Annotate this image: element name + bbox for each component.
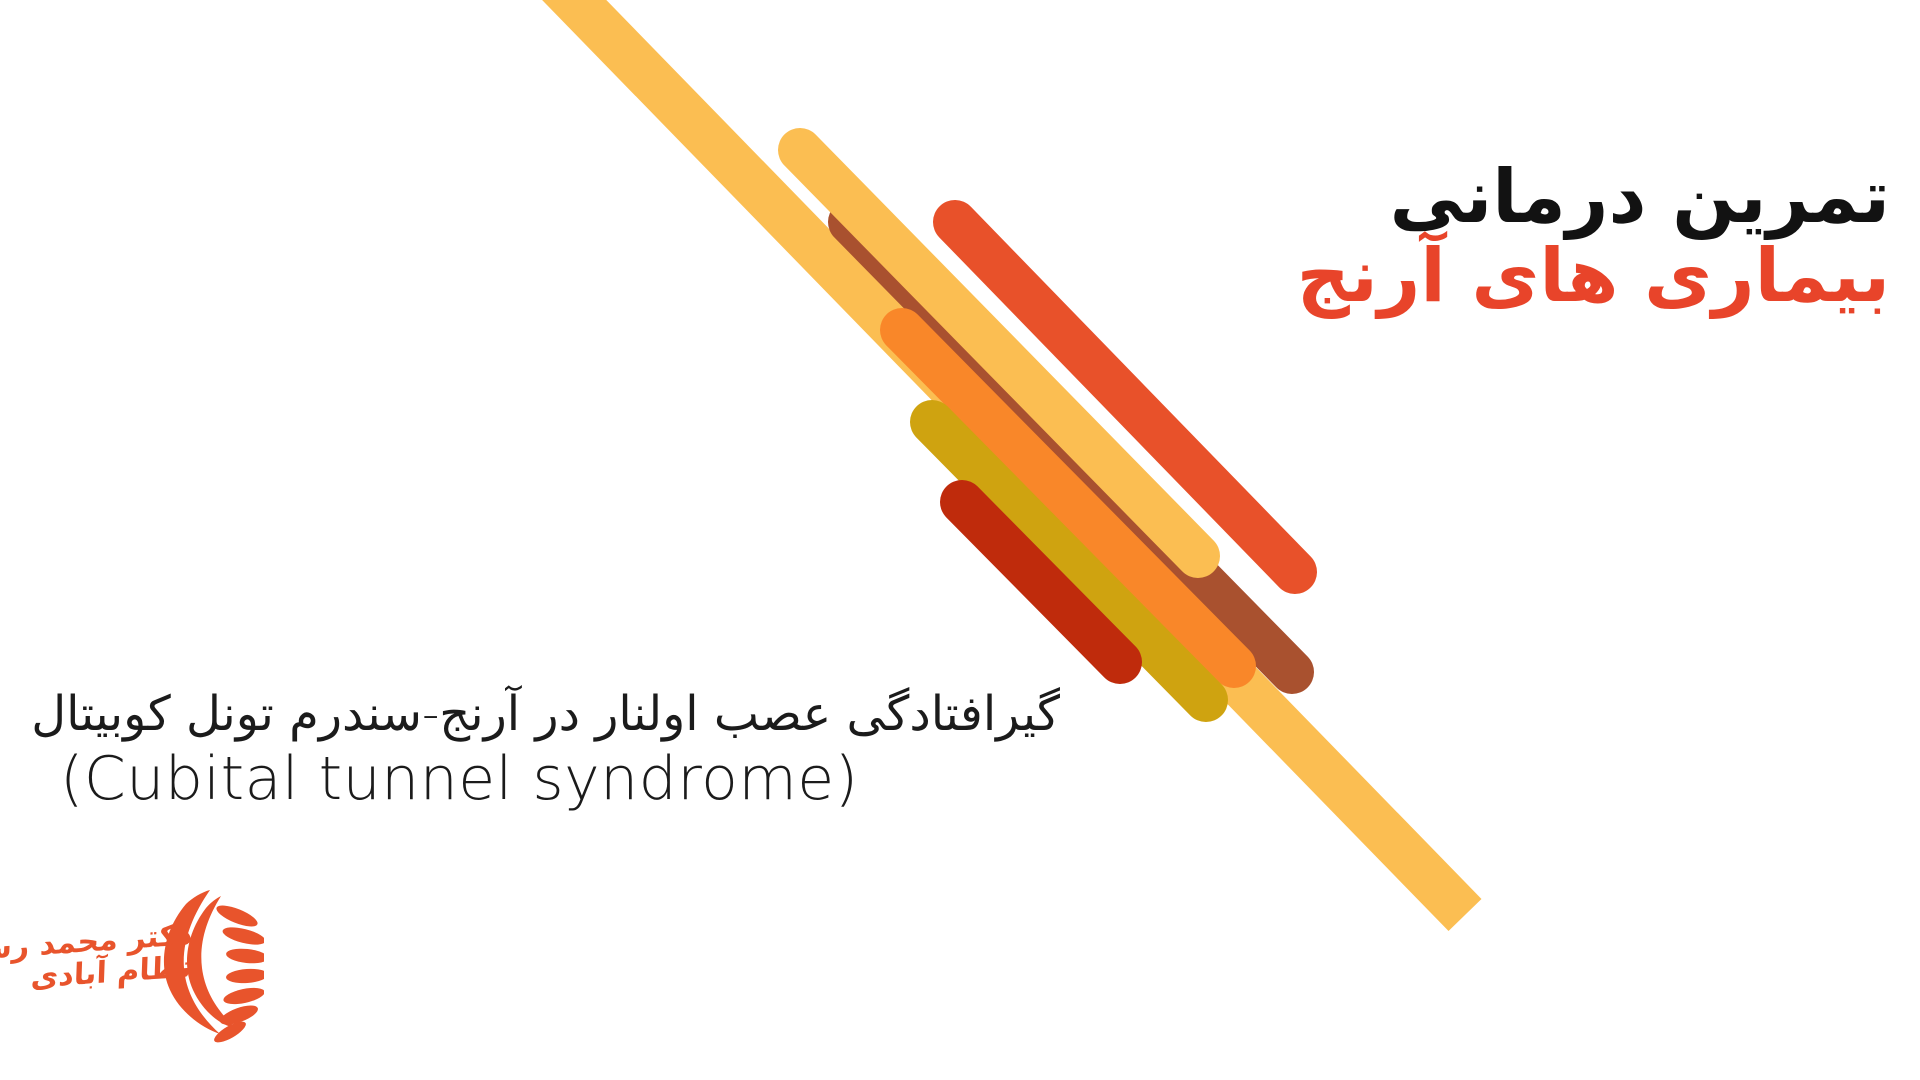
bar-orange-red — [955, 222, 1295, 572]
presentation-slide: تمرین درمانی بیماری های آرنج گیرافتادگی … — [0, 0, 1920, 1080]
bar-gold — [800, 150, 1198, 556]
bar-orange — [902, 330, 1234, 666]
brand-logo: دکتر محمد رسول نظام آبادی — [14, 886, 264, 1046]
slide-title: تمرین درمانی بیماری های آرنج — [1297, 160, 1890, 315]
bar-dark-yellow — [932, 422, 1206, 700]
bar-dark-red — [962, 502, 1120, 662]
title-line-primary: تمرین درمانی — [1297, 160, 1890, 235]
bar-brown — [850, 222, 1292, 672]
spine-flame-icon — [164, 890, 264, 1046]
subtitle-persian: گیرافتادگی عصب اولنار در آرنج-سندرم تونل… — [60, 688, 1060, 742]
title-line-secondary: بیماری های آرنج — [1297, 239, 1890, 314]
slide-subtitle: گیرافتادگی عصب اولنار در آرنج-سندرم تونل… — [60, 688, 1060, 812]
subtitle-english: (Cubital tunnel syndrome) — [60, 746, 1060, 812]
